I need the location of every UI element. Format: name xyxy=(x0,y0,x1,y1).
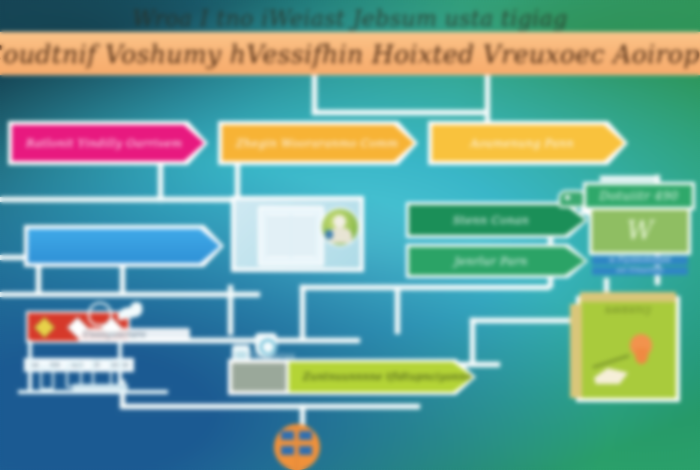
side-card-footer-text-1: w Pijzkknhnhdd xyxy=(592,256,688,265)
connector-line xyxy=(600,176,658,181)
connector-line xyxy=(300,285,305,339)
step-7-label: Zuntnuunnnne tfldtupnciyonnnf xyxy=(303,372,447,383)
step-2-chevron[interactable]: Zhegin Wooraranmo Comm xyxy=(222,125,414,161)
center-box[interactable] xyxy=(232,363,288,391)
connector-line xyxy=(312,75,317,115)
side-card-footer-line-1: w Pijzkknhnhdd xyxy=(592,256,688,265)
dove-label-chip[interactable]: Uuuuyuuctaro xyxy=(78,328,190,341)
side-card-glyph: W xyxy=(627,216,654,246)
book-card[interactable]: SAVESTCJ xyxy=(580,300,676,398)
dove-label: Uuuuyuuctaro xyxy=(78,330,146,339)
step-1-label: Ratlonit Yindilly Oarrivem xyxy=(26,137,178,150)
infographic-canvas: Wroa I tno iWeiast Jebsum usta tigiag Co… xyxy=(0,0,700,470)
connector-line xyxy=(395,286,400,334)
dove-icon xyxy=(114,300,146,324)
connector-line xyxy=(228,285,233,335)
side-card-footer-line-2: aoi Uitsartnm xyxy=(592,267,688,275)
book-card-title: SAVESTCJ xyxy=(580,306,676,315)
step-6-label: Jenrlur Parn xyxy=(423,255,559,268)
connector-line xyxy=(235,160,240,198)
side-card-header: Dotuiitr 490 xyxy=(599,189,678,203)
step-5-chevron[interactable]: Stenn Conan xyxy=(409,205,585,235)
connector-line xyxy=(158,160,163,202)
paper-icon xyxy=(594,368,628,384)
connector-line xyxy=(470,318,475,364)
header-overline: Wroa I tno iWeiast Jebsum usta tigiag xyxy=(0,2,700,36)
page-title: Coudtnif Voshumy hVessifhin Hoixted Vreu… xyxy=(0,33,700,75)
step-1-chevron[interactable]: Ratlonit Yindilly Oarrivem xyxy=(12,125,204,161)
side-card-footer-text-2: aoi Uitsartnm xyxy=(592,267,688,275)
open-book-icon xyxy=(258,206,324,266)
person-avatar-icon xyxy=(322,209,358,245)
step-3-label: Aoumenung Pann xyxy=(446,137,598,150)
connector-line xyxy=(312,110,488,115)
side-card[interactable]: Dotuiitr 490 xyxy=(586,185,692,207)
connector-line xyxy=(0,197,235,202)
orange-grid-node-icon[interactable] xyxy=(274,424,320,470)
side-card-body[interactable]: W xyxy=(592,210,688,252)
connector-line xyxy=(300,285,550,290)
connector-line xyxy=(120,404,420,409)
ring-icon xyxy=(88,302,112,326)
step-2-label: Zhegin Wooraranmo Comm xyxy=(236,137,388,150)
connector-line xyxy=(0,292,260,297)
step-4-chevron[interactable] xyxy=(28,229,220,263)
equipment-sketch xyxy=(10,340,175,398)
step-3-chevron[interactable]: Aoumenung Pann xyxy=(432,125,624,161)
flower-icon xyxy=(626,334,656,368)
step-7-chevron[interactable]: Zuntnuunnnne tfldtupnciyonnnf xyxy=(289,362,473,392)
hazard-diamond-yellow xyxy=(34,316,55,337)
step-6-chevron[interactable]: Jenrlur Parn xyxy=(409,247,585,275)
step-5-label: Stenn Conan xyxy=(423,214,559,227)
